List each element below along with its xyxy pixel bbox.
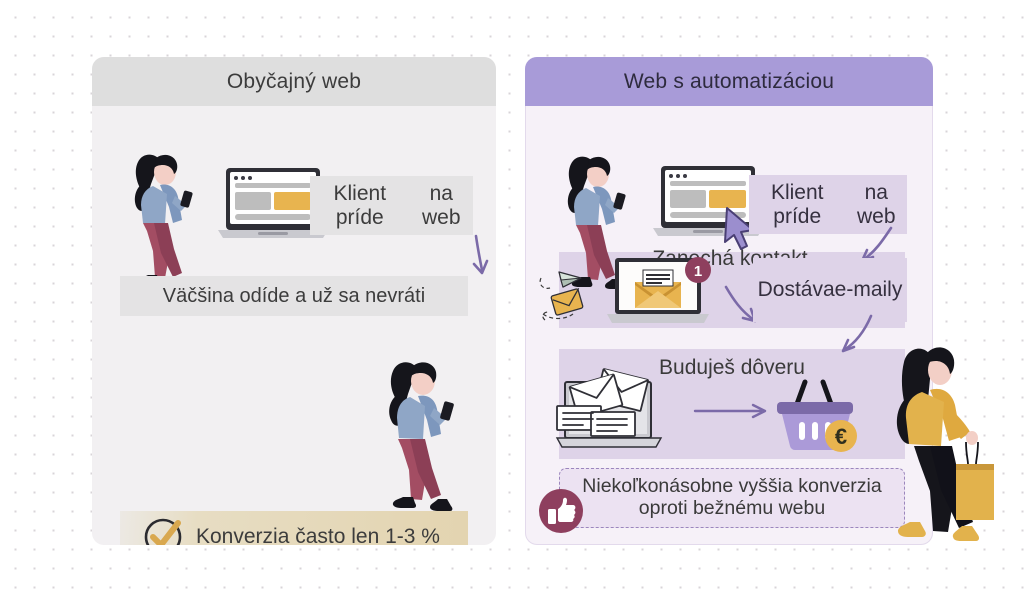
panel-ordinary-web-title: Obyčajný web (92, 57, 496, 106)
label-dostava-emaily-line1: Dostáva (758, 278, 835, 302)
label-konverzia-casto: Konverzia často len 1-3 % (120, 511, 468, 545)
label-klient-pride-left-line1: Klient príde (310, 182, 410, 229)
label-final-conversion-line1: Niekoľkonásobne vyššia konverzia (582, 476, 881, 498)
label-klient-pride-right-line1: Klient príde (749, 181, 845, 228)
label-klient-pride-left: Klient príde na web (310, 176, 473, 235)
panel-ordinary-web: Obyčajný web (92, 57, 496, 545)
panel-automated-web: Web s automatizáciou (525, 57, 933, 545)
label-final-conversion-line2: oproti bežnému webu (639, 498, 825, 520)
panel-ordinary-web-body: Klient príde na web Väčšina odíde a už s… (92, 106, 496, 545)
walking-woman-phone-illustration (120, 144, 206, 292)
label-dostava-emaily: Dostáva e-maily (753, 258, 907, 322)
panel-automated-web-body: Klient príde na web Zanechá kontakt (525, 106, 933, 545)
label-vacsina-odide: Väčšina odíde a už sa nevráti (120, 276, 468, 316)
panel-automated-web-title: Web s automatizáciou (525, 57, 933, 106)
label-dostava-emaily-line2: e-maily (835, 278, 903, 302)
label-final-conversion: Niekoľkonásobne vyššia konverzia oproti … (559, 468, 905, 528)
down-arrow-icon (462, 234, 496, 278)
label-klient-pride-left-line2: na web (410, 182, 473, 229)
walking-woman-phone-illustration-2 (376, 351, 464, 516)
label-klient-pride-right-line2: na web (845, 181, 907, 228)
label-budujes-doveru: Buduješ dôveru (607, 351, 857, 385)
woman-with-shopping-bag-illustration (890, 330, 1010, 545)
